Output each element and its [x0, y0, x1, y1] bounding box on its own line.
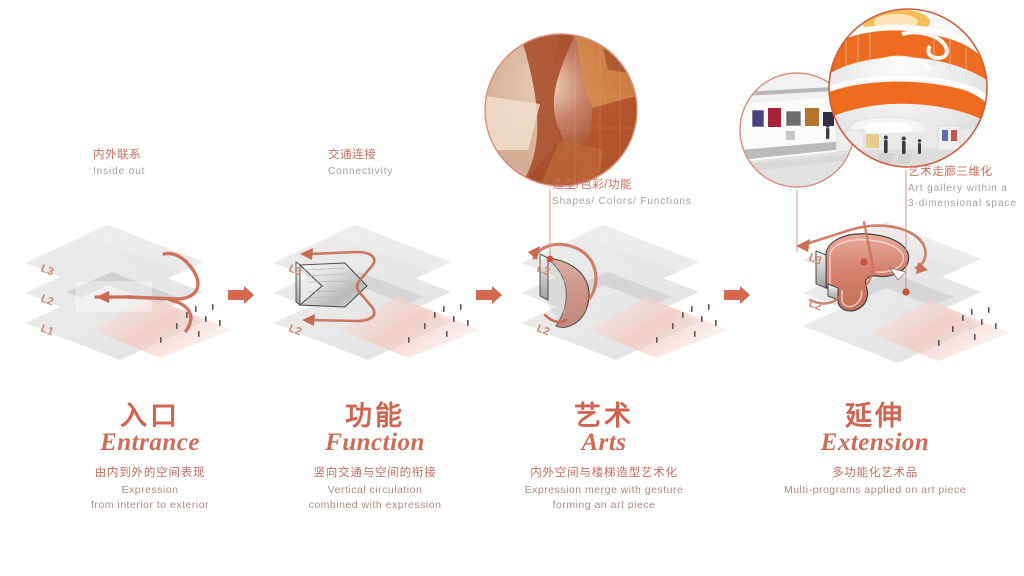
level-label-L2: L2 [807, 298, 823, 314]
panel-arts-massing: L3 L2 [521, 225, 728, 360]
panel-entrance-massing: L3 L2 L1 [25, 225, 232, 360]
caption-extension: 延伸 Extension 多功能化艺术品 Multi-programs appl… [730, 402, 1020, 498]
caption-sub-cn: 多功能化艺术品 [730, 465, 1020, 482]
orange-atrium-photo [829, 9, 987, 167]
annotation-en: Inside out [93, 164, 145, 179]
leader-dot-atrium [902, 288, 909, 295]
caption-arts: 艺术 Arts 内外空间与楼梯造型艺术化 Expression merge wi… [468, 402, 740, 512]
caption-sub-en-line1: Expression merge with gesture [468, 483, 740, 498]
annotation-en: Shapes/ Colors/ Functions [552, 194, 692, 209]
annotation-cn: 内外联系 [93, 148, 145, 164]
annotation-shapes-colors-functions: 造型/色彩/功能 Shapes/ Colors/ Functions [552, 178, 692, 209]
annotation-cn: 艺术走廊三维化 [908, 165, 1024, 181]
caption-title-cn: 延伸 [730, 402, 1020, 430]
diagram-canvas: L3 L2 L1 [0, 0, 1024, 576]
annotation-art-gallery-3d: 艺术走廊三维化 Art gallery within a 3-dimension… [908, 165, 1024, 219]
leader-dot-gallery [860, 258, 867, 265]
caption-title-en: Extension [730, 429, 1020, 457]
step-arrow-1-2 [228, 286, 254, 304]
annotation-cn: 造型/色彩/功能 [552, 178, 692, 194]
level-labels-panel1: L3 L2 L1 [39, 263, 55, 339]
caption-sub-en-line2: forming an art piece [468, 498, 740, 513]
annotation-en: Connectivity [328, 164, 393, 179]
caption-sub-cn: 内外空间与楼梯造型艺术化 [468, 465, 740, 482]
annotation-cn: 交通连接 [328, 148, 393, 164]
step-arrow-3-4 [724, 286, 750, 304]
leader-dot-arts [547, 256, 554, 263]
annotation-en-line2: 3-dimensional space [908, 196, 1024, 211]
panel-function-massing: L3 L2 [273, 225, 480, 360]
caption-sub-en-line1: Multi-programs applied on art piece [730, 483, 1020, 498]
copper-form-photo [485, 34, 637, 186]
caption-title-cn: 艺术 [468, 402, 740, 430]
annotation-inside-out: 内外联系 Inside out [93, 148, 145, 179]
annotation-connectivity: 交通连接 Connectivity [328, 148, 393, 179]
caption-title-en: Arts [468, 429, 740, 457]
annotation-en-line1: Art gallery within a [908, 181, 1024, 196]
step-arrow-2-3 [476, 286, 502, 304]
